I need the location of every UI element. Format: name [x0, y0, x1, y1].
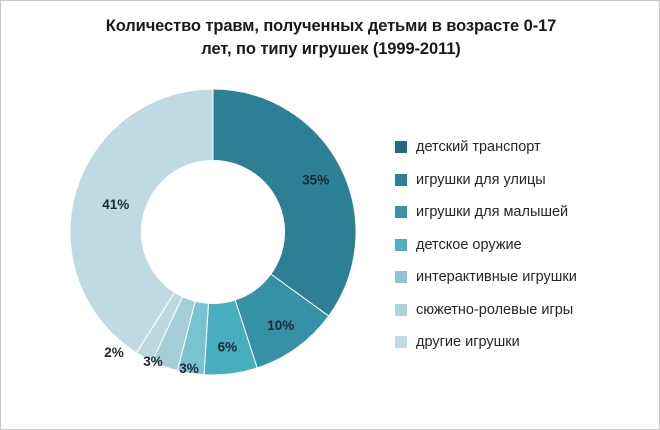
- slice-value-label: 35%: [302, 173, 329, 188]
- chart-title-line-2: лет, по типу игрушек (1999-2011): [201, 40, 460, 58]
- slice-value-label: 3%: [179, 361, 199, 376]
- legend-item[interactable]: детский транспорт: [395, 131, 645, 164]
- chart-title-line-1: Количество травм, полученных детьми в во…: [106, 17, 557, 35]
- donut-slice[interactable]: [213, 89, 356, 316]
- legend-item[interactable]: игрушки для улицы: [395, 164, 645, 197]
- legend-item-label: сюжетно-ролевые игры: [416, 303, 573, 318]
- legend-item-label: другие игрушки: [416, 335, 520, 350]
- slice-value-label: 6%: [218, 339, 238, 354]
- slice-value-label: 2%: [104, 345, 124, 360]
- slice-value-label: 41%: [102, 197, 129, 212]
- legend-swatch-icon: [395, 336, 407, 348]
- legend-swatch-icon: [395, 206, 407, 218]
- legend-item-label: детское оружие: [416, 238, 522, 253]
- slice-value-label: 3%: [143, 354, 163, 369]
- legend-swatch-icon: [395, 271, 407, 283]
- chart-legend: детский транспортигрушки для улицыигрушк…: [395, 131, 645, 359]
- legend-swatch-icon: [395, 304, 407, 316]
- legend-item[interactable]: интерактивные игрушки: [395, 261, 645, 294]
- legend-item[interactable]: другие игрушки: [395, 326, 645, 359]
- chart-title: Количество травм, полученных детьми в во…: [56, 15, 606, 61]
- legend-swatch-icon: [395, 174, 407, 186]
- legend-swatch-icon: [395, 239, 407, 251]
- donut-chart-area: 35%10%6%3%3%2%41%: [1, 61, 401, 430]
- donut-chart-svg: 35%10%6%3%3%2%41%: [1, 61, 401, 430]
- legend-item-label: интерактивные игрушки: [416, 270, 577, 285]
- legend-item-label: игрушки для улицы: [416, 173, 546, 188]
- chart-canvas: Количество травм, полученных детьми в во…: [0, 0, 660, 430]
- slice-value-label: 10%: [267, 318, 294, 333]
- legend-item[interactable]: детское оружие: [395, 229, 645, 262]
- legend-item-label: игрушки для малышей: [416, 205, 568, 220]
- legend-item-label: детский транспорт: [416, 140, 541, 155]
- legend-swatch-icon: [395, 141, 407, 153]
- legend-item[interactable]: сюжетно-ролевые игры: [395, 294, 645, 327]
- legend-item[interactable]: игрушки для малышей: [395, 196, 645, 229]
